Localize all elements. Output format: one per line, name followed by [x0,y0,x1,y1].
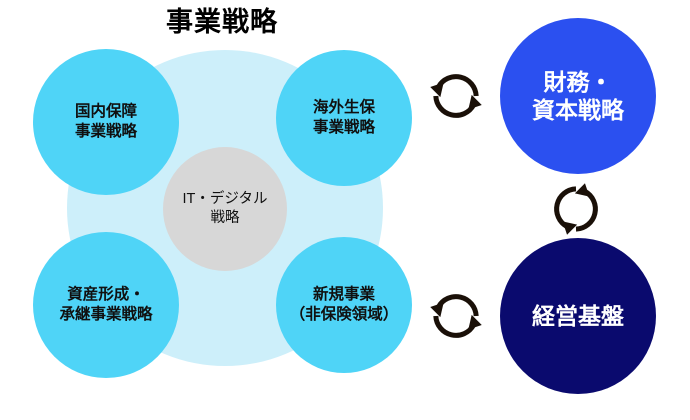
cycle-arrows-icon-business-to-base [428,288,484,344]
page-title: 事業戦略 [122,8,322,38]
satellite-domestic-insurance[interactable]: 国内保障 事業戦略 [33,49,179,195]
strategy-diagram: 事業戦略 国内保障 事業戦略 海外生保 事業戦略 資産形成・ 承継事業戦略 新規… [0,0,690,420]
pillar-finance-capital-strategy[interactable]: 財務・ 資本戦略 [500,18,656,174]
satellite-domestic-insurance-label: 国内保障 事業戦略 [75,102,137,142]
satellite-asset-formation-succession[interactable]: 資産形成・ 承継事業戦略 [33,232,179,378]
core-it-digital-strategy[interactable]: IT・デジタル 戦略 [163,147,287,271]
pillar-finance-capital-strategy-label: 財務・ 資本戦略 [532,68,624,124]
core-it-digital-strategy-label: IT・デジタル 戦略 [182,190,267,227]
pillar-management-base-label: 経営基盤 [532,302,624,330]
pillar-management-base[interactable]: 経営基盤 [500,238,656,394]
satellite-asset-formation-succession-label: 資産形成・ 承継事業戦略 [59,285,152,325]
satellite-overseas-life-insurance[interactable]: 海外生保 事業戦略 [276,50,412,186]
cycle-arrows-icon-business-to-finance [428,68,484,124]
cycle-arrows-icon-finance-to-base [548,181,604,237]
satellite-new-business-label: 新規事業 （非保険領域） [290,285,399,325]
satellite-overseas-life-insurance-label: 海外生保 事業戦略 [313,98,375,138]
satellite-new-business[interactable]: 新規事業 （非保険領域） [276,237,412,373]
